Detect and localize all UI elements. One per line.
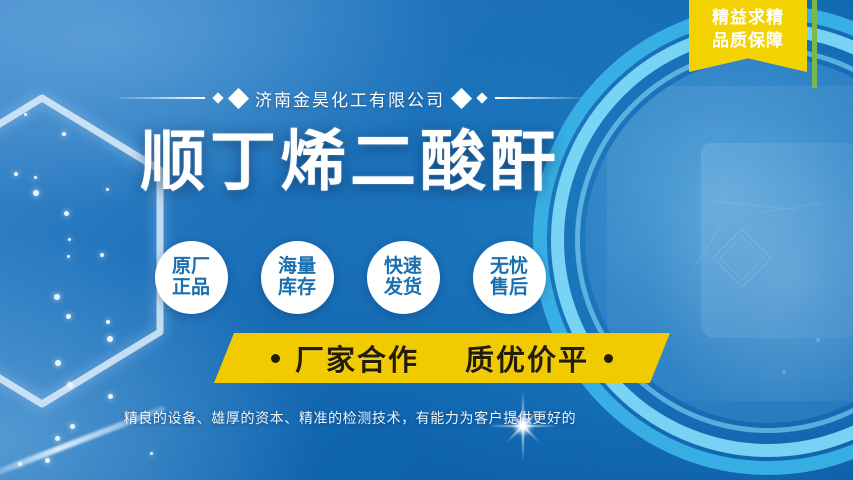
- quality-badge-line1: 精益求精: [712, 8, 784, 27]
- product-title: 顺丁烯二酸酐: [0, 128, 700, 194]
- feature-circle-4-line1: 无忧: [490, 256, 528, 277]
- feature-circle-1-line2: 正品: [172, 277, 210, 298]
- diamond-small-right-icon: [476, 92, 487, 103]
- feature-circle-1: 原厂 正品: [155, 241, 228, 314]
- company-name-row: 济南金昊化工有限公司: [0, 84, 700, 112]
- feature-circle-4-line2: 售后: [490, 277, 528, 298]
- bullet-right-icon: [604, 354, 613, 363]
- feature-circle-4: 无忧 售后: [473, 241, 546, 314]
- feature-circle-2: 海量 库存: [261, 241, 334, 314]
- quality-badge-stripe: [812, 0, 817, 88]
- diamond-large-left-icon: [228, 87, 249, 108]
- feature-circle-2-line1: 海量: [278, 256, 316, 277]
- feature-circle-3-line2: 发货: [384, 277, 422, 298]
- bullet-left-icon: [271, 354, 280, 363]
- slogan-banner: 厂家合作 质优价平: [214, 333, 670, 383]
- slogan-text-left: 厂家合作: [295, 337, 419, 379]
- divider-line-right: [495, 97, 581, 99]
- footer-description: 精良的设备、雄厚的资本、精准的检测技术，有能力为客户提供更好的: [0, 408, 700, 428]
- diamond-large-right-icon: [451, 87, 472, 108]
- divider-line-left: [119, 97, 205, 99]
- chemical-drum-icon: [701, 143, 853, 338]
- feature-circle-1-line1: 原厂: [172, 256, 210, 277]
- quality-badge-line2: 品质保障: [712, 31, 784, 50]
- feature-circles: 原厂 正品 海量 库存 快速 发货 无忧 售后: [0, 236, 700, 318]
- feature-circle-2-line2: 库存: [278, 277, 316, 298]
- slogan-text-right: 质优价平: [465, 337, 589, 379]
- diamond-small-left-icon: [212, 92, 223, 103]
- promo-banner: 精益求精 品质保障 济南金昊化工有限公司 顺丁烯二酸酐 原厂 正品 海量 库存 …: [0, 0, 853, 480]
- company-name: 济南金昊化工有限公司: [255, 86, 445, 111]
- feature-circle-3: 快速 发货: [367, 241, 440, 314]
- feature-circle-3-line1: 快速: [384, 256, 422, 277]
